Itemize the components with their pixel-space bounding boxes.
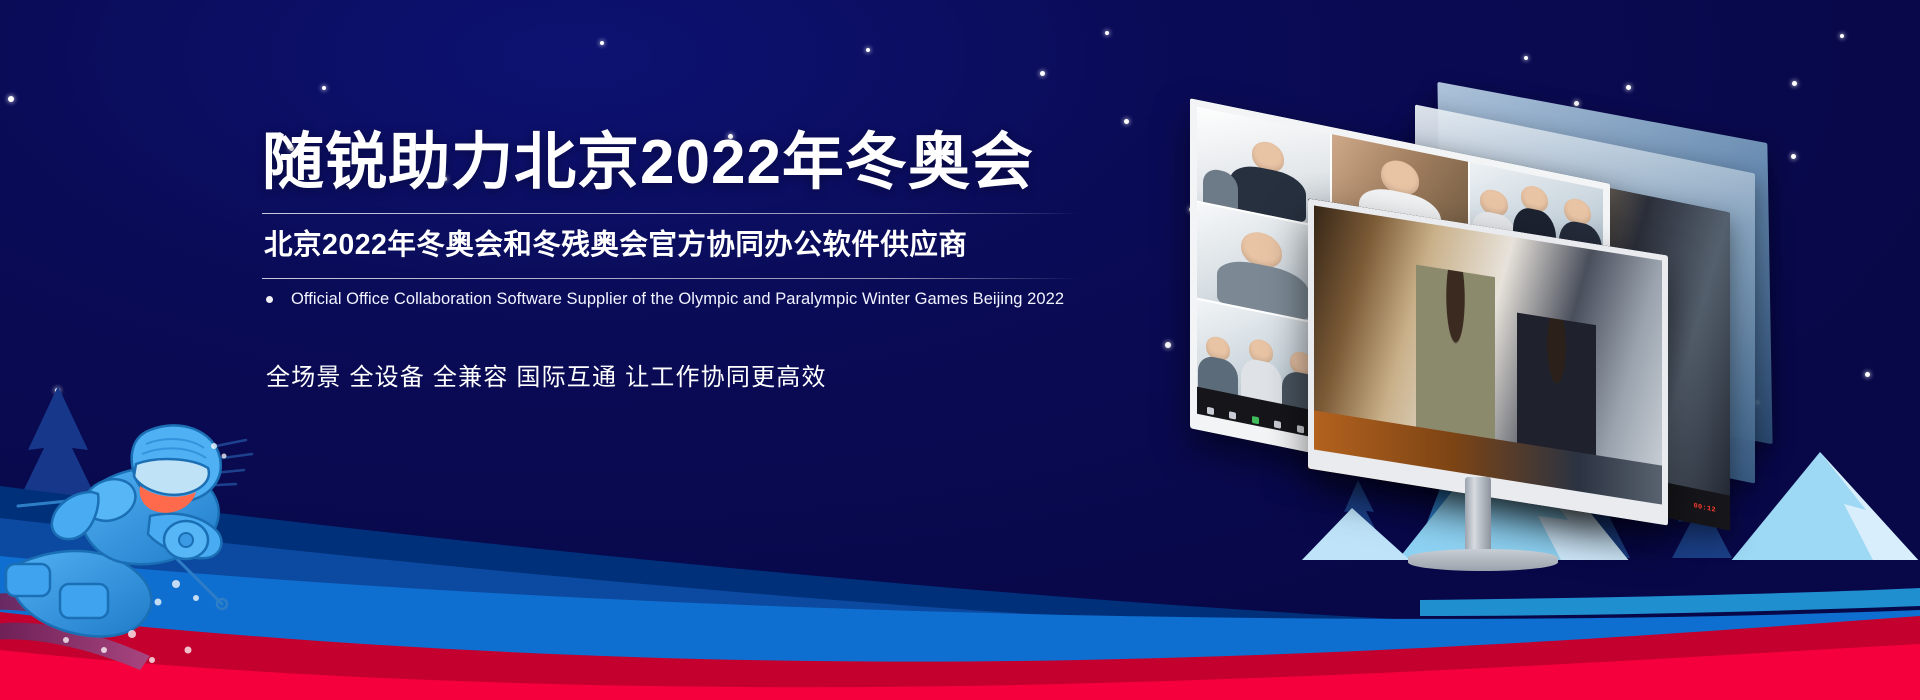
star-icon: [1040, 71, 1045, 76]
star-icon: [322, 86, 326, 90]
subtitle-english-row: Official Office Collaboration Software S…: [262, 290, 1092, 309]
star-icon: [1105, 31, 1109, 35]
monitor-stand-neck: [1465, 477, 1491, 559]
subtitle-chinese: 北京2022年冬奥会和冬残奥会官方协同办公软件供应商: [262, 214, 1092, 269]
star-icon: [8, 96, 14, 102]
record-timer: 00:12: [1693, 502, 1716, 515]
subtitle-english: Official Office Collaboration Software S…: [291, 290, 1064, 309]
olympic-promo-banner: 随锐助力北京2022年冬奥会 北京2022年冬奥会和冬残奥会官方协同办公软件供应…: [0, 0, 1920, 700]
video-icon[interactable]: [1252, 416, 1259, 424]
star-icon: [1626, 85, 1631, 90]
divider-bottom: [262, 278, 1080, 279]
page-title: 随锐助力北京2022年冬奥会: [262, 128, 1092, 197]
star-icon: [866, 48, 870, 52]
feature-tagline: 全场景 全设备 全兼容 国际互通 让工作协同更高效: [262, 357, 1092, 392]
star-icon: [600, 41, 604, 45]
star-icon: [1792, 81, 1797, 86]
star-icon: [1524, 56, 1528, 60]
chat-icon[interactable]: [1297, 425, 1304, 433]
star-icon: [1840, 34, 1844, 38]
mute-icon[interactable]: [1229, 411, 1236, 419]
headline-copy-block: 随锐助力北京2022年冬奥会 北京2022年冬奥会和冬残奥会官方协同办公软件供应…: [262, 128, 1092, 392]
share-screen-icon[interactable]: [1274, 420, 1281, 428]
star-icon: [1124, 119, 1129, 124]
star-icon: [1165, 342, 1171, 348]
participants-icon[interactable]: [1207, 407, 1214, 415]
video-conference-monitor-cluster: 00:12: [1190, 105, 1810, 565]
bullet-icon: [266, 296, 273, 303]
alpine-skier-illustration: [0, 388, 300, 688]
monitor-stand-base: [1408, 549, 1558, 571]
